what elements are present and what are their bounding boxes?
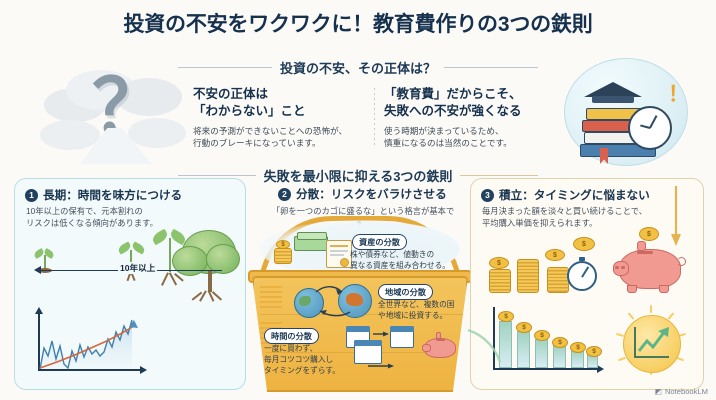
column-divider <box>374 88 375 146</box>
education-clock-illustration: ！ <box>542 56 710 168</box>
time-text-line3: タイミングをずらす。 <box>264 366 340 375</box>
coin-icon: $ <box>534 330 550 341</box>
page-title: 投資の不安をワクワクに！教育費作りの3つの鉄則 <box>0 8 716 38</box>
divider-right-warm <box>460 175 538 176</box>
rule-3-header: 3 積立：タイミングに悩まない <box>481 187 650 203</box>
calendar-icons <box>346 326 422 378</box>
diversification-basket: $ 資産の分散 株や債券など、値動きの 異なる資産を組み合わせる。 <box>252 222 468 392</box>
coin-icon: $ <box>516 322 532 333</box>
rule-3-body-line2: 平均購入単価を抑えられます。 <box>482 218 597 228</box>
anxiety-2-heading-line1: 「教育費」だからこそ、 <box>384 87 522 101</box>
growth-tree-illustration: 10年以上 <box>14 230 246 320</box>
rule-1-number-badge: 1 <box>25 189 38 202</box>
rule-3-title: 積立：タイミングに悩まない <box>499 187 650 203</box>
coin-icon: $ <box>570 342 586 353</box>
coin-icon: $ <box>639 227 659 241</box>
coin-stack-icon <box>274 248 292 264</box>
region-text-line2: や地域に投資する。 <box>378 311 447 320</box>
infographic-canvas: 投資の不安をワクワクに！教育費作りの3つの鉄則 ？ ！ 投資の不安、その正体は？… <box>0 0 716 400</box>
region-text-line1: 全世界など、複数の国 <box>378 300 455 309</box>
anxiety-1-body-line2: 行動のブレーキになっています。 <box>193 138 321 148</box>
coin-icon: $ <box>586 346 602 357</box>
anxiety-1-body-line1: 将来の予測ができないことへの恐怖が、 <box>193 126 347 136</box>
long-term-growth-chart <box>30 312 146 376</box>
watermark-text: NotebookLM <box>665 387 708 396</box>
rule-2-number-badge: 2 <box>278 188 291 201</box>
chip-time-diversification: 時間の分散 <box>264 328 319 344</box>
rule-3-body-line1: 毎月決まった額を淡々と買い続けることで、 <box>482 206 647 216</box>
growth-sun-badge <box>613 305 693 385</box>
piggy-bank-illustration: $ <box>613 227 691 299</box>
fog-question-illustration: ？ <box>40 58 190 166</box>
rule-2-header: 2 分散：リスクをバラけさせる <box>278 186 447 202</box>
coin-icon: $ <box>498 311 514 322</box>
asset-diversification-text: 株や債券など、値動きの 異なる資産を組み合わせる。 <box>350 250 450 272</box>
coin-growth-icons: $ $ $ <box>485 235 615 301</box>
rule-3-body: 毎月決まった額を淡々と買い続けることで、 平均購入単価を抑えられます。 <box>482 205 647 229</box>
globe-icons <box>294 284 374 318</box>
divider-left-warm <box>178 175 256 176</box>
anxiety-2-body-line2: 慎重になるのは当然のことです。 <box>384 138 512 148</box>
exclamation-icon: ！ <box>668 78 689 108</box>
coin-icon: $ <box>489 257 509 269</box>
rule-1-body-line1: 10年以上の保有で、元本割れの <box>26 206 143 216</box>
anxiety-1-heading-line2: 「わからない」こと <box>193 104 306 118</box>
rule-panel-monthly-investing: 3 積立：タイミングに悩まない 毎月決まった額を淡々と買い続けることで、 平均購… <box>470 178 704 390</box>
chip-region-diversification: 地域の分散 <box>378 284 433 300</box>
coin-icon: $ <box>573 237 595 251</box>
graduation-cap-icon <box>584 82 642 97</box>
rule-3-number-badge: 3 <box>481 189 494 202</box>
time-text-line2: 毎月コツコツ購入し <box>264 355 333 364</box>
rules-heading-text: 失敗を最小限に抑える3つの鉄則 <box>264 166 453 185</box>
region-diversification-text: 全世界など、複数の国 や地域に投資する。 <box>378 300 455 322</box>
rule-1-title: 長期：時間を味方につける <box>43 187 182 203</box>
asset-text-line2: 異なる資産を組み合わせる。 <box>350 261 450 270</box>
rule-1-header: 1 長期：時間を味方につける <box>25 187 182 203</box>
anxiety-column-1: 不安の正体は 「わからない」こと 将来の予測ができないことへの恐怖が、 行動のブ… <box>193 86 363 149</box>
average-cost-bar-chart: $ $ $ $ $ $ <box>487 307 611 381</box>
anxiety-2-body-line1: 使う時期が決まっているため、 <box>384 126 504 136</box>
chart-svg <box>30 312 146 376</box>
rule-1-body: 10年以上の保有で、元本割れの リスクは低くなる傾向があります。 <box>26 205 158 229</box>
divider-left <box>178 67 272 68</box>
section-heading-text: 投資の不安、その正体は？ <box>280 58 436 77</box>
rule-2-title: 分散：リスクをバラけさせる <box>296 186 447 202</box>
time-diversification-text: 一度に買わず、 毎月コツコツ購入し タイミングをずらす。 <box>264 344 340 376</box>
coin-icon: $ <box>276 240 290 249</box>
notebooklm-mark-icon: ◩ <box>655 387 662 396</box>
anxiety-1-heading-line1: 不安の正体は <box>193 87 268 101</box>
coin-icon: $ <box>545 249 565 261</box>
cash-bundle-icon <box>294 232 328 252</box>
question-mark-icon: ？ <box>92 70 166 144</box>
watermark: ◩ NotebookLM <box>655 387 708 396</box>
certificate-icon <box>326 240 352 270</box>
piggy-bank-basket-icon <box>424 330 458 360</box>
time-text-line1: 一度に買わず、 <box>264 344 317 353</box>
clock-icon <box>628 106 672 150</box>
anxiety-2-heading-line2: 失敗への不安が強くなる <box>384 104 522 118</box>
timeline-label: 10年以上 <box>118 262 157 274</box>
divider-right <box>444 67 538 68</box>
chip-asset-diversification: 資産の分散 <box>352 234 407 250</box>
section-heading-anxiety: 投資の不安、その正体は？ <box>178 58 538 77</box>
coin-icon: $ <box>552 337 568 348</box>
asset-text-line1: 株や債券など、値動きの <box>350 250 434 259</box>
anxiety-column-2: 「教育費」だからこそ、 失敗への不安が強くなる 使う時期が決まっているため、 慎… <box>384 86 562 149</box>
rule-1-body-line2: リスクは低くなる傾向があります。 <box>26 218 158 228</box>
